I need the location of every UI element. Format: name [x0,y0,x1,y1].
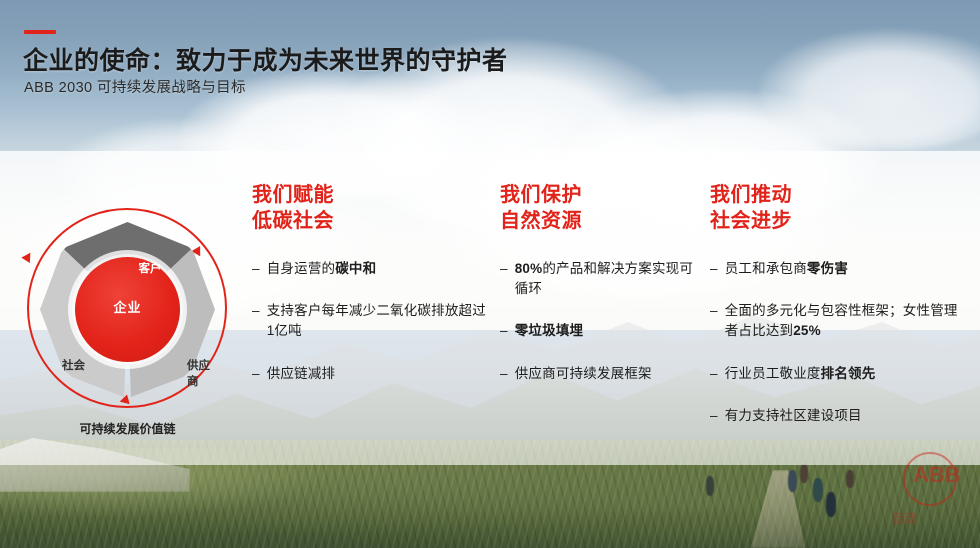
arrow-head-icon [21,250,34,263]
list-item: –支持客户每年减少二氧化碳排放超过1亿吨 [252,301,492,342]
list-item: –供应链减排 [252,364,492,384]
donut-center-label: 企业 [75,297,180,316]
bullet-dash-icon: – [500,259,508,300]
hiker-figure [788,470,797,492]
hiker-figure [826,492,836,517]
hiker-figure [800,464,808,483]
bullet-dash-icon: – [710,406,718,426]
bullet-text: 供应商可持续发展框架 [515,364,652,384]
bullet-dash-icon: – [252,259,260,279]
pillar-column: 我们赋能 低碳社会 –自身运营的碳中和–支持客户每年减少二氧化碳排放超过1亿吨–… [252,182,492,406]
bullet-dash-icon: – [710,259,718,279]
bullet-text: 有力支持社区建设项目 [725,406,862,426]
slide-header: 企业的使命：致力于成为未来世界的守护者 ABB 2030 可持续发展战略与目标 [0,0,980,151]
value-chain-diagram: 企业 客户 供应商 社会 可持续发展价值链 [15,200,240,445]
bullet-text: 支持客户每年减少二氧化碳排放超过1亿吨 [267,301,492,342]
segment-label-society: 社会 [62,357,85,373]
bullet-text: 供应链减排 [267,364,336,384]
donut-chart: 企业 客户 供应商 社会 [40,222,215,397]
pillar-bullet-list: –自身运营的碳中和–支持客户每年减少二氧化碳排放超过1亿吨–供应链减排 [252,259,492,384]
accent-bar [24,30,56,34]
bullet-text: 自身运营的碳中和 [267,259,377,279]
bullet-text: 80%的产品和解决方案实现可循环 [515,259,705,300]
segment-label-suppliers: 供应商 [187,357,215,389]
pillar-column: 我们保护 自然资源 –80%的产品和解决方案实现可循环–零垃圾填埋–供应商可持续… [500,182,705,406]
hiker-figure [846,470,854,488]
pillar-heading: 我们推动 社会进步 [710,182,960,235]
pillar-heading: 我们保护 自然资源 [500,182,705,235]
bullet-text: 全面的多元化与包容性框架；女性管理者占比达到25% [725,301,960,342]
bullet-text: 行业员工敬业度排名领先 [725,364,876,384]
pillar-bullet-list: –员工和承包商零伤害–全面的多元化与包容性框架；女性管理者占比达到25%–行业员… [710,259,960,426]
page-title: 企业的使命：致力于成为未来世界的守护者 [23,41,508,77]
diagram-caption: 可持续发展价值链 [15,420,240,437]
list-item: –行业员工敬业度排名领先 [710,364,960,384]
pillar-heading: 我们赋能 低碳社会 [252,182,492,235]
bullet-dash-icon: – [500,364,508,384]
list-item: –零垃圾填埋 [500,321,705,341]
pillar-column: 我们推动 社会进步 –员工和承包商零伤害–全面的多元化与包容性框架；女性管理者占… [710,182,960,448]
list-item: –员工和承包商零伤害 [710,259,960,279]
pillar-bullet-list: –80%的产品和解决方案实现可循环–零垃圾填埋–供应商可持续发展框架 [500,259,705,384]
page-subtitle: ABB 2030 可持续发展战略与目标 [24,76,246,97]
bullet-dash-icon: – [710,301,718,342]
bullet-text: 零垃圾填埋 [515,321,584,341]
list-item: –全面的多元化与包容性框架；女性管理者占比达到25% [710,301,960,342]
bullet-dash-icon: – [252,364,260,384]
bullet-text: 员工和承包商零伤害 [725,259,848,279]
list-item: –80%的产品和解决方案实现可循环 [500,259,705,300]
hiker-figure [813,478,823,502]
list-item: –有力支持社区建设项目 [710,406,960,426]
hiker-figure [706,476,714,496]
list-item: –供应商可持续发展框架 [500,364,705,384]
bullet-dash-icon: – [252,301,260,342]
list-item: –自身运营的碳中和 [252,259,492,279]
bullet-dash-icon: – [500,321,508,341]
segment-label-customers: 客户 [120,260,180,276]
bullet-dash-icon: – [710,364,718,384]
